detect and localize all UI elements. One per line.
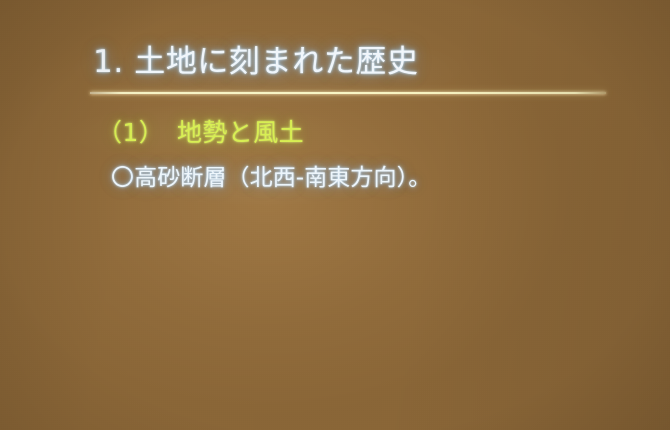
slide-bullet-line: 〇高砂断層（北西-南東方向）。 xyxy=(111,165,431,193)
slide-title: 1. 土地に刻まれた歴史 xyxy=(93,45,419,81)
projected-slide-photo: 1. 土地に刻まれた歴史 （1） 地勢と風土 〇高砂断層（北西-南東方向）。 xyxy=(0,0,670,430)
circle-bullet-icon: 〇 xyxy=(111,165,134,193)
slide-content: 1. 土地に刻まれた歴史 （1） 地勢と風土 〇高砂断層（北西-南東方向）。 xyxy=(0,0,670,430)
slide-subheading: （1） 地勢と風土 xyxy=(97,118,304,148)
title-underline-rule xyxy=(90,92,606,94)
slide-bullet-text: 高砂断層（北西-南東方向）。 xyxy=(134,165,431,193)
